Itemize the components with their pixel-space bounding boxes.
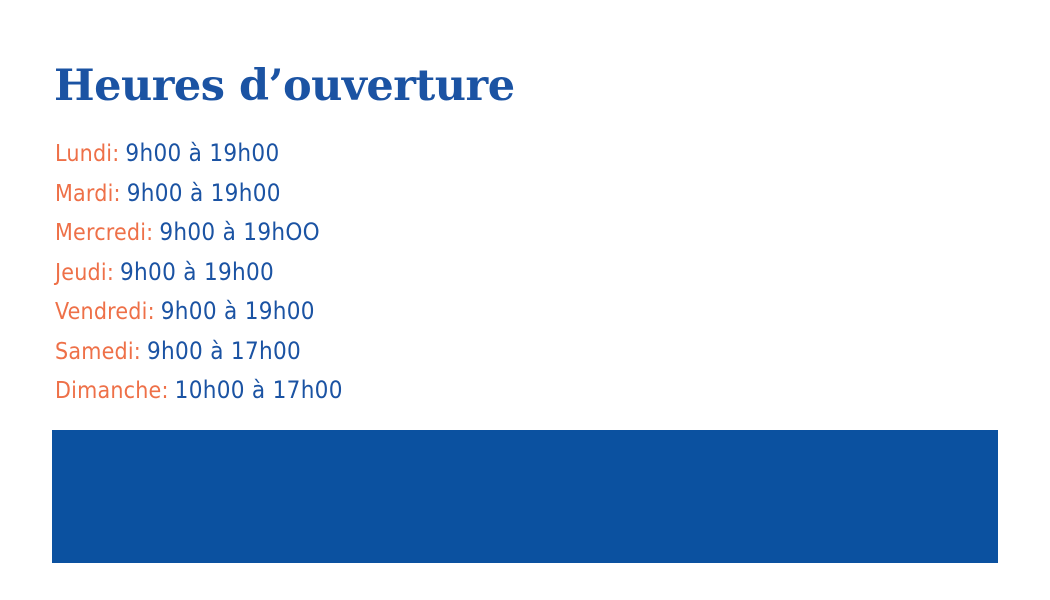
day-label: Mercredi: [55,220,153,246]
list-item: Mardi:9h00 à 19h00 [55,174,695,214]
list-item: Samedi:9h00 à 17h00 [55,332,695,372]
day-label: Vendredi: [55,299,155,325]
time-range: 9h00 à 19hOO [159,218,320,246]
blue-banner-block [52,430,998,563]
list-item: Mercredi:9h00 à 19hOO [55,213,695,253]
list-item: Dimanche:10h00 à 17h00 [55,371,695,411]
day-label: Samedi: [55,339,141,365]
slide-canvas: Heures d’ouverture Lundi:9h00 à 19h00 Ma… [0,0,1050,600]
day-label: Lundi: [55,141,119,167]
time-range: 10h00 à 17h00 [175,376,343,404]
time-range: 9h00 à 19h00 [127,179,281,207]
time-range: 9h00 à 17h00 [147,337,301,365]
list-item: Vendredi:9h00 à 19h00 [55,292,695,332]
list-item: Lundi:9h00 à 19h00 [55,134,695,174]
day-label: Mardi: [55,181,121,207]
time-range: 9h00 à 19h00 [125,139,279,167]
time-range: 9h00 à 19h00 [161,297,315,325]
day-label: Dimanche: [55,378,169,404]
opening-hours-list: Lundi:9h00 à 19h00 Mardi:9h00 à 19h00 Me… [55,134,695,411]
day-label: Jeudi: [55,260,114,286]
time-range: 9h00 à 19h00 [120,258,274,286]
page-title: Heures d’ouverture [54,62,515,110]
list-item: Jeudi:9h00 à 19h00 [55,253,695,293]
